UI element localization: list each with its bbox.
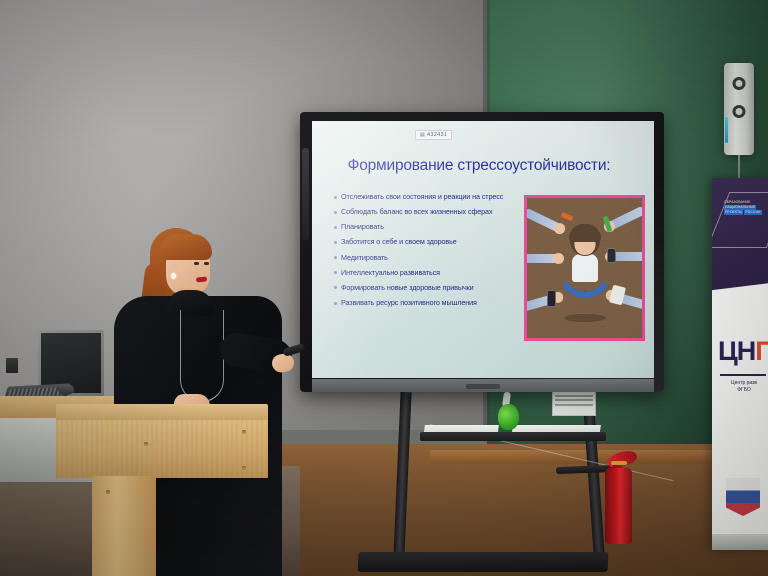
banner-top-block: ОБРАЗОВАНИЕ НАЦИОНАЛЬНЫЕ ПРОЕКТЫ РОССИИ <box>712 178 768 296</box>
bullet-dot-icon <box>334 211 337 214</box>
extinguisher-body <box>605 468 632 544</box>
bullet-item: Соблюдать баланс во всех жизненных сфера… <box>334 208 520 216</box>
display-chin <box>312 379 654 392</box>
power-outlet <box>6 358 18 373</box>
sign-line-3 <box>555 399 593 401</box>
slide-illustration <box>524 195 645 341</box>
banner-org-line: ФГБО <box>718 387 768 394</box>
display-side-controls[interactable] <box>302 148 309 240</box>
lectern <box>56 404 268 576</box>
speaker-ring-bottom-icon <box>733 105 746 118</box>
sign-line-2 <box>555 395 593 397</box>
gadget-phone-right <box>607 248 616 263</box>
bullet-text: Развивать ресурс позитивного мышления <box>341 299 477 307</box>
figure-hair-front <box>569 224 601 242</box>
bullet-text: Планировать <box>341 223 384 231</box>
necklace-chain <box>180 310 224 402</box>
banner-subtitle: Центр разв <box>718 380 768 387</box>
bullet-text: Формировать новые здоровые привычки <box>341 284 474 292</box>
hand-top-left <box>524 208 563 234</box>
bullet-dot-icon <box>334 226 337 229</box>
bullet-item: Заботится о себе и своем здоровье <box>334 238 520 246</box>
interactive-display[interactable]: ▤ 432431 Формирование стрессоустойчивост… <box>300 112 664 392</box>
presentation-room-photo: ОБРАЗОВАНИЕ НАЦИОНАЛЬНЫЕ ПРОЕКТЫ РОССИИ … <box>0 0 768 576</box>
bullet-dot-icon <box>334 286 337 289</box>
document-icon: ▤ <box>420 132 425 138</box>
bullet-text: Интеллектуально развиваться <box>341 269 440 277</box>
lectern-front-panel <box>56 420 268 478</box>
bullet-dot-icon <box>334 241 337 244</box>
lectern-screw <box>242 430 246 434</box>
slide-watermark-text: 432431 <box>427 132 447 138</box>
bullet-item: Отслеживать свои состояния и реакции на … <box>334 193 520 201</box>
display-bezel: ▤ 432431 Формирование стрессоустойчивост… <box>300 112 664 392</box>
green-bottle <box>498 404 519 430</box>
bullet-item: Развивать ресурс позитивного мышления <box>334 299 520 307</box>
bullet-item: Интеллектуально развиваться <box>334 269 520 277</box>
fist-icon <box>553 253 564 264</box>
bullet-dot-icon <box>334 302 337 305</box>
fist-icon <box>552 221 567 236</box>
display-screen[interactable]: ▤ 432431 Формирование стрессоустойчивост… <box>312 121 654 378</box>
banner-logo-main: ЦН <box>718 336 755 366</box>
slide-bullet-list: Отслеживать свои состояния и реакции на … <box>334 193 520 314</box>
hair-fringe <box>160 234 212 260</box>
gadget-orange <box>561 212 574 221</box>
wall-speaker-sensor-icon <box>724 63 754 155</box>
banner-np-line-3: РОССИИ <box>744 210 761 215</box>
banner-subtitle-block: Центр разв ФГБО <box>718 380 768 394</box>
lectern-screw <box>144 442 148 446</box>
banner-foot-bar <box>712 534 768 550</box>
bullet-item: Формировать новые здоровые привычки <box>334 284 520 292</box>
speaker-ring-top-icon <box>733 77 746 90</box>
banner-logo-accent: П <box>755 336 768 366</box>
lectern-column <box>92 476 156 576</box>
figure-legs <box>556 278 614 308</box>
sign-line-4 <box>555 404 593 406</box>
banner-logo: ЦНП <box>718 336 768 367</box>
stand-shelf <box>420 432 606 441</box>
bullet-text: Медитировать <box>341 254 388 262</box>
extinguisher-handle <box>611 461 627 465</box>
hand-mid-left <box>524 254 559 263</box>
banner-np-line-2: ПРОЕКТЫ <box>724 210 743 215</box>
bullet-dot-icon <box>334 271 337 274</box>
bullet-text: Соблюдать баланс во всех жизненных сфера… <box>341 208 492 216</box>
figure-torso <box>572 254 598 282</box>
hand-top-right <box>606 206 645 232</box>
rollup-banner: ОБРАЗОВАНИЕ НАЦИОНАЛЬНЫЕ ПРОЕКТЫ РОССИИ … <box>712 178 768 550</box>
bullet-item: Медитировать <box>334 254 520 262</box>
bullet-text: Заботится о себе и своем здоровье <box>341 238 457 246</box>
bullet-item: Планировать <box>334 223 520 231</box>
lotus-legs-icon <box>556 278 614 308</box>
lectern-screw <box>242 466 246 470</box>
status-led <box>725 117 728 143</box>
banner-national-project-text: ОБРАЗОВАНИЕ НАЦИОНАЛЬНЫЕ ПРОЕКТЫ РОССИИ <box>724 200 768 215</box>
earring <box>171 273 176 279</box>
eye-right <box>204 262 209 265</box>
bullet-dot-icon <box>334 196 337 199</box>
mouse[interactable] <box>58 384 74 395</box>
lectern-screw <box>106 490 110 494</box>
display-brand-logo <box>466 384 500 389</box>
banner-rule <box>720 374 766 376</box>
fire-extinguisher-icon <box>605 452 632 544</box>
stand-base <box>358 552 609 572</box>
bullet-dot-icon <box>334 256 337 259</box>
bullet-text: Отслеживать свои состояния и реакции на … <box>341 193 503 201</box>
eye-left <box>194 262 199 265</box>
figure-shadow <box>564 314 606 322</box>
slide-title: Формирование стрессоустойчивости: <box>312 157 646 175</box>
banner-flag-emblem-icon <box>726 478 760 516</box>
slide-watermark: ▤ 432431 <box>415 130 452 140</box>
